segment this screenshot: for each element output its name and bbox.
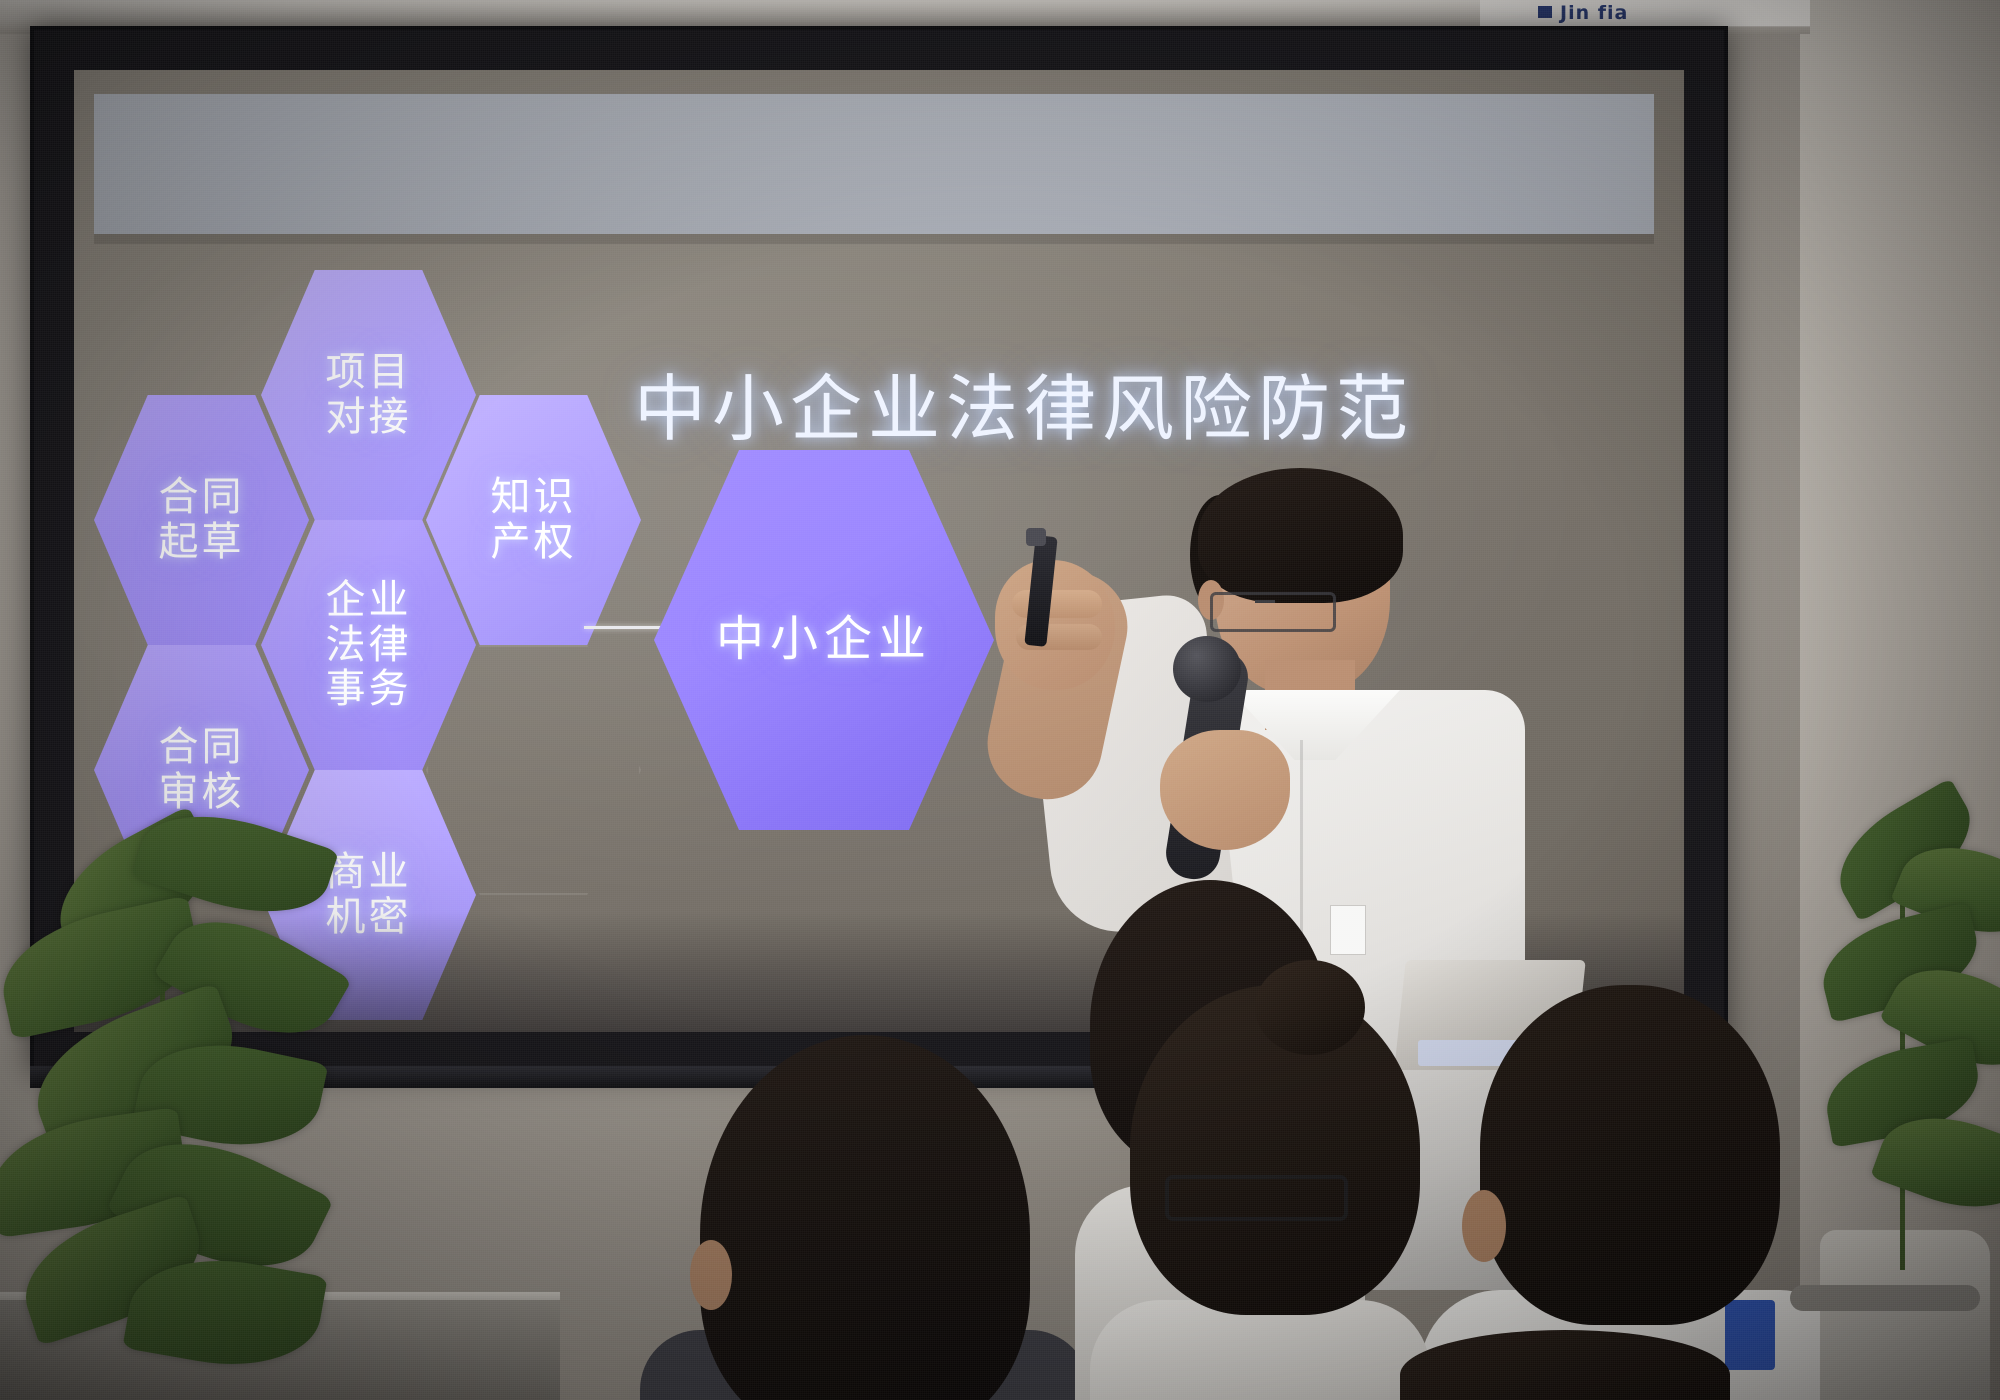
hex-contract-drafting-label: 合同 起草 <box>159 475 245 565</box>
audience-left-ear <box>690 1240 732 1310</box>
hex-label-line: 对接 <box>326 395 412 440</box>
hex-label-line: 法律 <box>326 623 412 668</box>
hex-enterprise-legal-affairs-label: 企业 法律 事务 <box>326 578 412 712</box>
audience-right-ear <box>1462 1190 1506 1262</box>
audience-woman-hair-bun <box>1255 960 1365 1055</box>
hex-label-line: 合同 <box>159 725 245 770</box>
hex-contract-review-label: 合同 审核 <box>159 725 245 815</box>
screenshot-root: Jin fia 中小企业法律风险防范 合同 起草 项目 对接 <box>0 0 2000 1400</box>
presenter-glasses-bridge <box>1255 600 1275 603</box>
slide-title: 中小企业法律风险防范 <box>634 350 1574 455</box>
plant-left <box>0 820 410 1400</box>
hex-label-line: 事务 <box>326 667 412 712</box>
presenter-name-badge <box>1330 905 1366 955</box>
hex-label-line: 项目 <box>326 350 412 395</box>
audience-head-right <box>1480 985 1780 1325</box>
slide-header-band <box>94 94 1654 234</box>
hex-label-line: 起草 <box>159 520 245 565</box>
slide-header-band-shadow <box>94 234 1654 244</box>
hex-label-line: 合同 <box>159 475 245 520</box>
presenter-hand-holding-microphone <box>1160 730 1290 850</box>
presenter-hair <box>1198 468 1403 603</box>
audience-woman-shoulders <box>1090 1300 1430 1400</box>
hex-center-sme-label: 中小企业 <box>716 613 932 667</box>
pointer-pen-tip <box>1026 528 1046 546</box>
banner-text: Jin fia <box>1560 2 1628 24</box>
microphone-head-icon <box>1173 636 1241 702</box>
hex-intellectual-property-label: 知识 产权 <box>491 475 577 565</box>
hex-label-line: 产权 <box>491 520 577 565</box>
audience-woman-glasses-icon <box>1165 1175 1348 1221</box>
presenter-glasses-icon <box>1210 592 1336 632</box>
presenter-fingers-upper <box>1012 590 1102 618</box>
wall-banner <box>1480 0 1810 27</box>
hex-label-line: 知识 <box>491 475 577 520</box>
plant-right <box>1820 800 2000 1400</box>
audience-right-lanyard <box>1725 1300 1775 1370</box>
hex-label-line: 企业 <box>326 578 412 623</box>
hex-project-docking-label: 项目 对接 <box>326 350 412 440</box>
banner-logo-icon <box>1538 6 1552 18</box>
hex-label-line: 审核 <box>159 770 245 815</box>
